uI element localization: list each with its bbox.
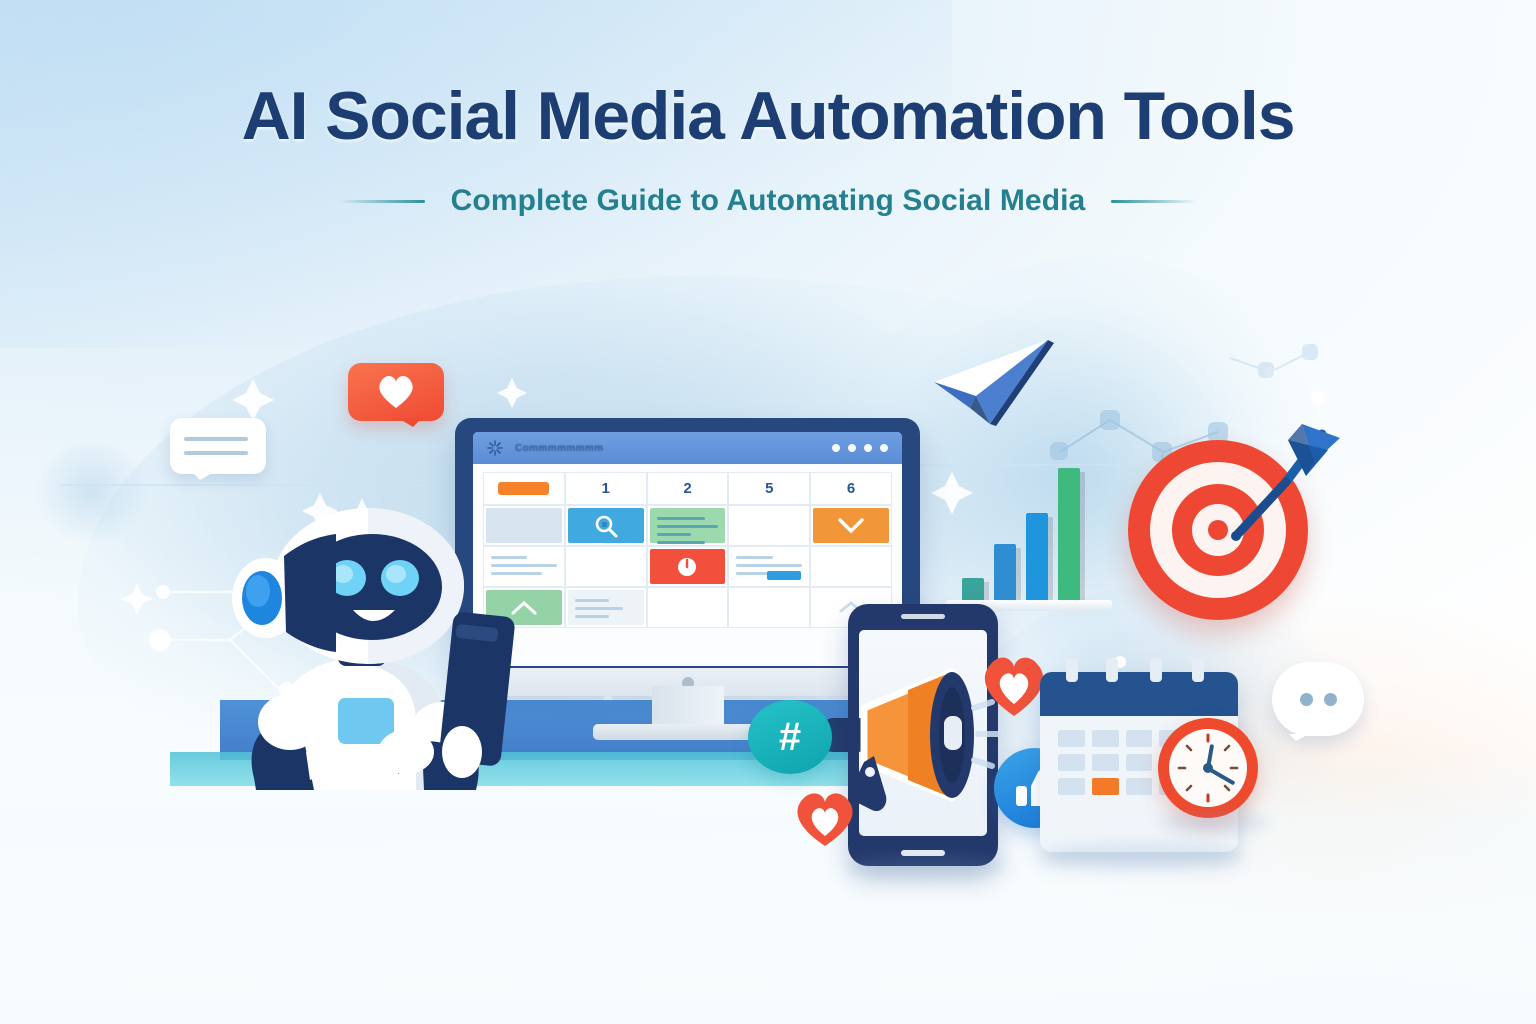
calendar-shadow [1042,842,1242,868]
window-dot[interactable] [848,444,856,452]
heart-reaction-bubble-icon [348,363,444,421]
arrow-icon [1190,418,1340,568]
search-tile [568,508,644,543]
calendar-day[interactable] [1126,778,1153,795]
clock-ticks [1169,729,1247,807]
app-title-text: Commmmmmmm [515,443,603,454]
calendar-day[interactable] [1126,730,1153,747]
page-title: AI Social Media Automation Tools [0,82,1536,150]
calendar-cell[interactable] [810,505,892,546]
calendar-header-cell: 6 [810,472,892,505]
calendar-cell[interactable] [728,587,810,628]
tile-text-lines [657,517,719,549]
clock-face [1169,729,1247,807]
subtitle-dash-right [1111,200,1197,203]
calendar-day[interactable] [1058,730,1085,747]
chevron-down-tile [813,508,889,543]
calendar-day[interactable] [1092,754,1119,771]
chat-bubble-icon [170,418,266,474]
bar-chart-bar [1058,468,1080,604]
window-dot[interactable] [832,444,840,452]
calendar-day[interactable] [1058,778,1085,795]
robot-assistant-icon [210,490,530,790]
poster-canvas: AI Social Media Automation Tools Complet… [0,0,1536,1024]
calendar-header-row: 1 2 5 6 [483,472,892,505]
calendar-ring [1106,658,1118,682]
window-dot[interactable] [880,444,888,452]
calendar-cell[interactable] [565,505,647,546]
clock-icon [676,556,698,578]
text-tile [650,508,726,543]
calendar-row [483,587,892,628]
subtitle-row: Complete Guide to Automating Social Medi… [0,184,1536,218]
app-title-bar: Commmmmmmm [473,432,902,464]
calendar-cell[interactable] [728,505,810,546]
heart-icon [376,374,416,410]
calendar-day-today[interactable] [1092,778,1119,795]
heart-icon [980,654,1048,718]
poster-header: AI Social Media Automation Tools Complet… [0,82,1536,218]
search-icon [593,513,619,539]
calendar-cell[interactable] [565,587,647,628]
calendar-day[interactable] [1092,730,1119,747]
calendar-day[interactable] [1126,754,1153,771]
clock-shadow [1160,812,1270,834]
clock-icon [1158,718,1258,818]
calendar-cell[interactable] [647,587,729,628]
monitor-screen: Commmmmmmm 1 2 [473,432,902,666]
chat-dots-bubble-icon [1272,662,1364,736]
heart-icon [794,790,856,848]
calendar-cell[interactable] [565,546,647,587]
calendar-ring [1150,658,1162,682]
content-calendar-grid: 1 2 5 6 [473,464,902,628]
window-controls[interactable] [832,444,888,452]
calendar-ring [1192,658,1204,682]
calendar-header-cell: 1 [565,472,647,505]
calendar-row [483,546,892,587]
calendar-cell[interactable] [810,546,892,587]
hashtag-glyph: # [779,717,801,757]
calendar-row [483,505,892,546]
calendar-header-cell: 5 [728,472,810,505]
clock-tile [650,549,726,584]
paper-plane-icon [930,338,1058,430]
bar-chart-bar [1026,513,1048,604]
phone-speaker [901,614,945,619]
calendar-cell[interactable] [728,546,810,587]
dot [1324,693,1337,706]
page-subtitle: Complete Guide to Automating Social Medi… [451,184,1086,218]
calendar-cell[interactable] [647,505,729,546]
chevron-down-icon [837,517,865,535]
bar-chart [962,462,1082,604]
calendar-header-cell: 2 [647,472,729,505]
hashtag-icon: # [748,700,832,774]
app-logo-icon [487,440,503,456]
bar-chart-bar [994,544,1016,604]
tile-text-lines [575,599,637,623]
cell-chip [767,571,801,580]
window-dot[interactable] [864,444,872,452]
dot [1300,693,1313,706]
subtitle-dash-left [339,200,425,203]
calendar-day[interactable] [1058,754,1085,771]
calendar-cell[interactable] [647,546,729,587]
monitor-neck [652,686,724,726]
text-tile-light [568,590,644,625]
calendar-ring [1066,658,1078,682]
phone-shadow [846,856,1006,878]
